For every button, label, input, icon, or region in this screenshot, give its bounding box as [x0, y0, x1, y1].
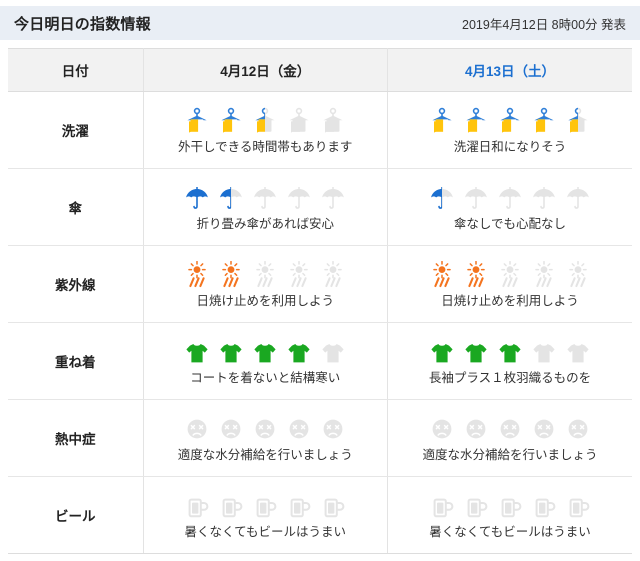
uv-sun-icon [286, 261, 312, 289]
index-icon-row [184, 413, 346, 443]
umbrella-icon [184, 184, 210, 212]
heatstroke-face-icon [320, 415, 346, 443]
laundry-hanger-icon [252, 107, 278, 135]
index-comment: 日焼け止めを利用しよう [441, 294, 579, 309]
umbrella-icon [497, 184, 523, 212]
beer-mug-icon [497, 492, 523, 520]
umbrella-icon-half [429, 184, 442, 212]
shirt-icon [429, 338, 455, 366]
heatstroke-face-icon [252, 415, 278, 443]
beer-mug-icon [218, 492, 244, 520]
index-cell: 日焼け止めを利用しよう [143, 246, 388, 323]
laundry-hanger-icon [463, 107, 489, 135]
index-cell: 暑くなくてもビールはうまい [143, 477, 388, 554]
shirt-icon [565, 338, 591, 366]
shirt-icon [497, 338, 523, 366]
row-label-ビール: ビール [8, 477, 143, 554]
index-cell-inner: コートを着ないと結構寒い [145, 336, 387, 386]
table-row: 重ね着 コートを着ないと結構寒い 長袖プラス１枚羽織るものを [8, 323, 632, 400]
row-label-text: 紫外線 [55, 278, 96, 293]
index-cell: コートを着ないと結構寒い [143, 323, 388, 400]
umbrella-icon [320, 184, 346, 212]
laundry-hanger-icon [565, 107, 591, 135]
index-icon-row [429, 490, 591, 520]
umbrella-icon [252, 184, 278, 212]
index-comment: 暑くなくてもビールはうまい [184, 525, 346, 540]
index-icon-row [429, 259, 591, 289]
row-label-熱中症: 熱中症 [8, 400, 143, 477]
beer-mug-icon [531, 492, 557, 520]
column-header-day-2: 4月13日（土） [388, 49, 633, 92]
column-header-day-2-label: 4月13日（土） [465, 64, 555, 79]
issued-timestamp: 2019年4月12日 8時00分 発表 [462, 14, 626, 33]
shirt-icon [286, 338, 312, 366]
shirt-icon [531, 338, 557, 366]
index-cell-inner: 傘なしでも心配なし [389, 182, 631, 232]
beer-mug-icon [286, 492, 312, 520]
beer-mug-icon [463, 492, 489, 520]
heatstroke-face-icon [463, 415, 489, 443]
index-icon-row [429, 182, 591, 212]
heatstroke-face-icon [531, 415, 557, 443]
index-cell-inner: 外干しできる時間帯もあります [145, 105, 387, 155]
beer-mug-icon [565, 492, 591, 520]
index-cell: 傘なしでも心配なし [388, 169, 633, 246]
heatstroke-face-icon [429, 415, 455, 443]
index-cell: 適度な水分補給を行いましょう [388, 400, 633, 477]
umbrella-icon [286, 184, 312, 212]
index-cell-inner: 暑くなくてもビールはうまい [145, 490, 387, 540]
shirt-icon [252, 338, 278, 366]
laundry-hanger-icon [497, 107, 523, 135]
laundry-hanger-icon-half [252, 107, 265, 135]
index-cell-inner: 長袖プラス１枚羽織るものを [389, 336, 631, 386]
umbrella-icon [218, 184, 244, 212]
page-header: 今日明日の指数情報 2019年4月12日 8時00分 発表 [0, 6, 640, 40]
table-header-row: 日付 4月12日（金） 4月13日（土） [8, 49, 632, 92]
laundry-hanger-icon [531, 107, 557, 135]
laundry-hanger-icon-half [565, 107, 578, 135]
index-cell-inner: 適度な水分補給を行いましょう [145, 413, 387, 463]
shirt-icon [320, 338, 346, 366]
index-information-page: 今日明日の指数情報 2019年4月12日 8時00分 発表 日付 4月12日（金… [0, 6, 640, 561]
umbrella-icon [565, 184, 591, 212]
heatstroke-face-icon [184, 415, 210, 443]
index-comment: 折り畳み傘があれば安心 [196, 217, 334, 232]
index-icon-row [184, 259, 346, 289]
uv-sun-icon [565, 261, 591, 289]
index-icon-row [429, 413, 591, 443]
index-icon-row [429, 105, 591, 135]
shirt-icon [218, 338, 244, 366]
umbrella-icon [531, 184, 557, 212]
umbrella-icon-half [218, 184, 231, 212]
index-icon-row [184, 336, 346, 366]
umbrella-icon [429, 184, 455, 212]
row-label-text: 重ね着 [55, 355, 96, 370]
beer-mug-icon [252, 492, 278, 520]
index-cell: 暑くなくてもビールはうまい [388, 477, 633, 554]
index-cell-inner: 暑くなくてもビールはうまい [389, 490, 631, 540]
row-label-重ね着: 重ね着 [8, 323, 143, 400]
column-header-day-1: 4月12日（金） [143, 49, 388, 92]
row-label-傘: 傘 [8, 169, 143, 246]
table-body: 洗濯 [8, 92, 632, 554]
laundry-hanger-icon [429, 107, 455, 135]
index-cell: 日焼け止めを利用しよう [388, 246, 633, 323]
laundry-hanger-icon [218, 107, 244, 135]
uv-sun-icon [531, 261, 557, 289]
table-row: 洗濯 [8, 92, 632, 169]
heatstroke-face-icon [218, 415, 244, 443]
table-row: 傘 折り畳み傘があれば安心 [8, 169, 632, 246]
laundry-hanger-icon [184, 107, 210, 135]
row-label-text: ビール [55, 509, 96, 524]
index-cell-inner: 適度な水分補給を行いましょう [389, 413, 631, 463]
row-label-text: 熱中症 [55, 432, 96, 447]
index-cell: 長袖プラス１枚羽織るものを [388, 323, 633, 400]
index-icon-row [184, 490, 346, 520]
table-row: 熱中症 [8, 400, 632, 477]
index-comment: 暑くなくてもビールはうまい [429, 525, 591, 540]
uv-sun-icon [218, 261, 244, 289]
heatstroke-face-icon [497, 415, 523, 443]
heatstroke-face-icon [286, 415, 312, 443]
uv-sun-icon [497, 261, 523, 289]
table-header: 日付 4月12日（金） 4月13日（土） [8, 49, 632, 92]
index-cell-inner: 日焼け止めを利用しよう [389, 259, 631, 309]
beer-mug-icon [320, 492, 346, 520]
uv-sun-icon [463, 261, 489, 289]
index-icon-row [184, 105, 346, 135]
index-comment: 外干しできる時間帯もあります [178, 140, 352, 155]
index-cell-inner: 折り畳み傘があれば安心 [145, 182, 387, 232]
shirt-icon [463, 338, 489, 366]
row-label-text: 洗濯 [62, 124, 89, 139]
row-label-洗濯: 洗濯 [8, 92, 143, 169]
index-comment: コートを着ないと結構寒い [190, 371, 340, 386]
row-label-text: 傘 [69, 201, 83, 216]
index-comment: 適度な水分補給を行いましょう [422, 448, 597, 463]
index-cell: 外干しできる時間帯もあります [143, 92, 388, 169]
index-icon-row [184, 182, 346, 212]
laundry-hanger-icon [320, 107, 346, 135]
index-comment: 長袖プラス１枚羽織るものを [429, 371, 591, 386]
index-comment: 洗濯日和になりそう [454, 140, 567, 155]
index-comment: 適度な水分補給を行いましょう [178, 448, 353, 463]
beer-mug-icon [429, 492, 455, 520]
index-comment: 日焼け止めを利用しよう [196, 294, 334, 309]
index-cell: 折り畳み傘があれば安心 [143, 169, 388, 246]
uv-sun-icon [429, 261, 455, 289]
beer-mug-icon [184, 492, 210, 520]
page-title: 今日明日の指数情報 [14, 13, 151, 34]
uv-sun-icon [252, 261, 278, 289]
umbrella-icon [463, 184, 489, 212]
uv-sun-icon [320, 261, 346, 289]
index-icon-row [429, 336, 591, 366]
row-label-紫外線: 紫外線 [8, 246, 143, 323]
index-cell: 適度な水分補給を行いましょう [143, 400, 388, 477]
column-header-date: 日付 [8, 49, 143, 92]
index-cell-inner: 日焼け止めを利用しよう [145, 259, 387, 309]
table-row: 紫外線 [8, 246, 632, 323]
index-table: 日付 4月12日（金） 4月13日（土） 洗濯 [8, 48, 632, 554]
uv-sun-icon [184, 261, 210, 289]
shirt-icon [184, 338, 210, 366]
index-comment: 傘なしでも心配なし [454, 217, 566, 232]
heatstroke-face-icon [565, 415, 591, 443]
index-cell-inner: 洗濯日和になりそう [389, 105, 631, 155]
index-cell: 洗濯日和になりそう [388, 92, 633, 169]
table-row: ビール 暑くなくてもビールはうまい 暑くなく [8, 477, 632, 554]
laundry-hanger-icon [286, 107, 312, 135]
